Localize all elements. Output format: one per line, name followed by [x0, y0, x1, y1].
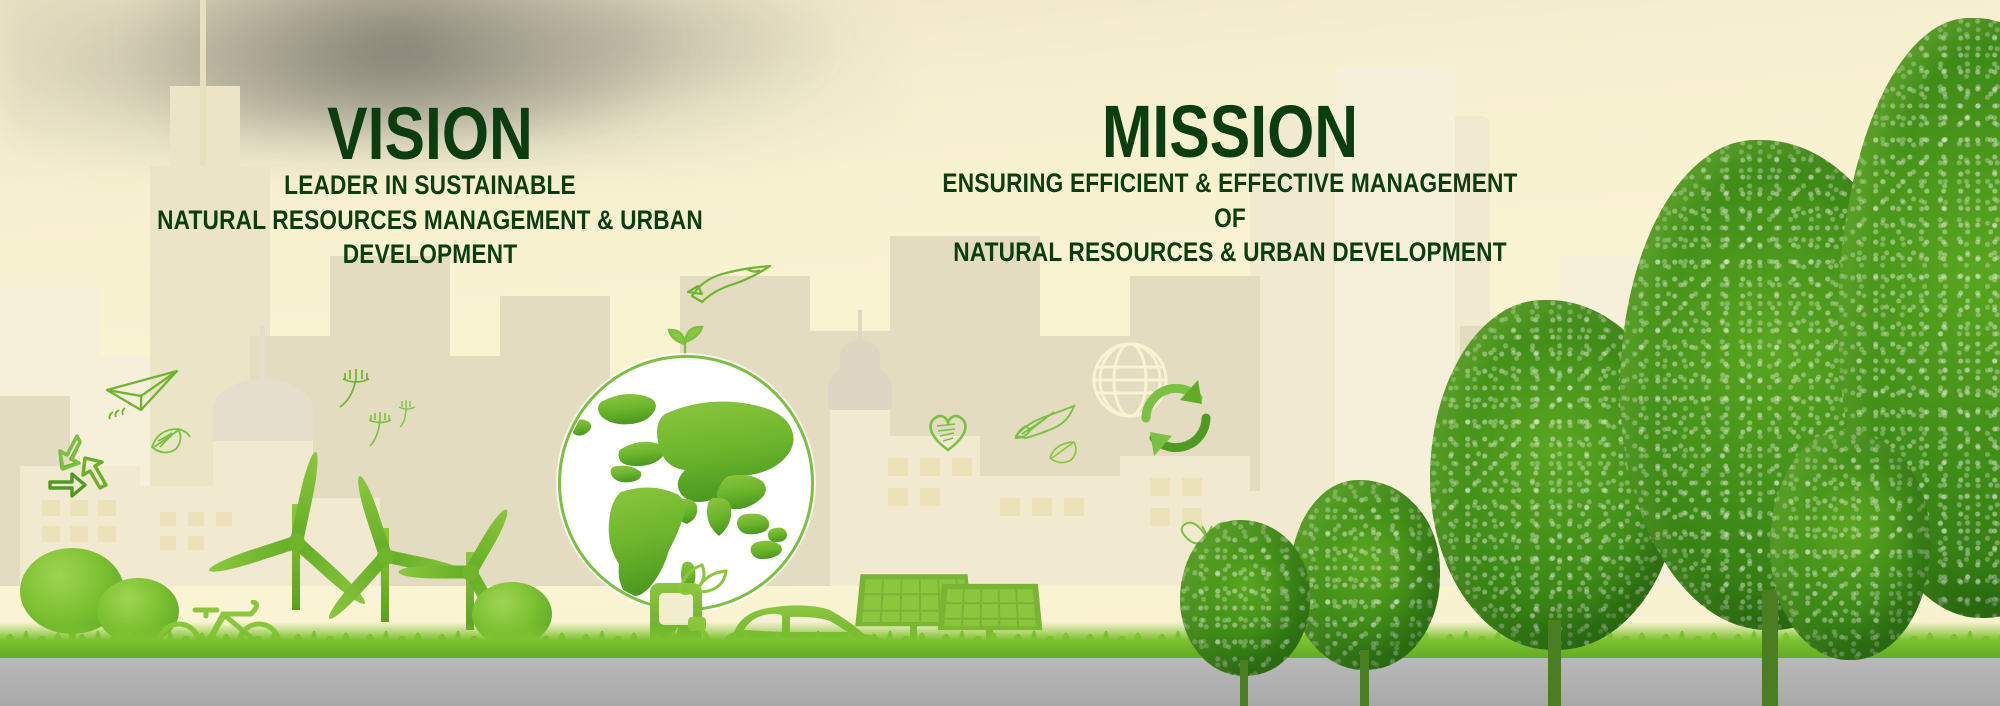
- leaf-sprig-icon: [676, 557, 732, 597]
- vision-line-1: LEADER IN SUSTAINABLE: [94, 168, 766, 203]
- photo-tree: [1290, 480, 1440, 706]
- vision-title: VISION: [102, 100, 758, 168]
- mission-line-2: NATURAL RESOURCES & URBAN DEVELOPMENT: [936, 235, 1524, 270]
- mission-title: MISSION: [943, 98, 1517, 166]
- mission-line-1: ENSURING EFFICIENT & EFFECTIVE MANAGEMEN…: [936, 166, 1524, 235]
- leaf-outline-icon: [148, 425, 192, 455]
- mission-block: MISSION ENSURING EFFICIENT & EFFECTIVE M…: [880, 98, 1580, 270]
- recycle-icon: [38, 430, 116, 520]
- eco-vision-mission-banner: VISION LEADER IN SUSTAINABLE NATURAL RES…: [0, 0, 2000, 706]
- paper-plane-icon: [105, 368, 185, 420]
- leaf-outline-icon: [1047, 438, 1087, 468]
- vision-line-2: NATURAL RESOURCES MANAGEMENT & URBAN DEV…: [94, 203, 766, 272]
- heart-doodle-icon: [925, 410, 971, 454]
- photo-tree: [1180, 520, 1310, 706]
- vision-block: VISION LEADER IN SUSTAINABLE NATURAL RES…: [30, 100, 830, 272]
- photo-tree: [1770, 430, 1930, 706]
- leaf-sprig-icon: [686, 262, 776, 316]
- dandelion-icon: [390, 390, 438, 450]
- refresh-arrows-icon: [1128, 370, 1224, 466]
